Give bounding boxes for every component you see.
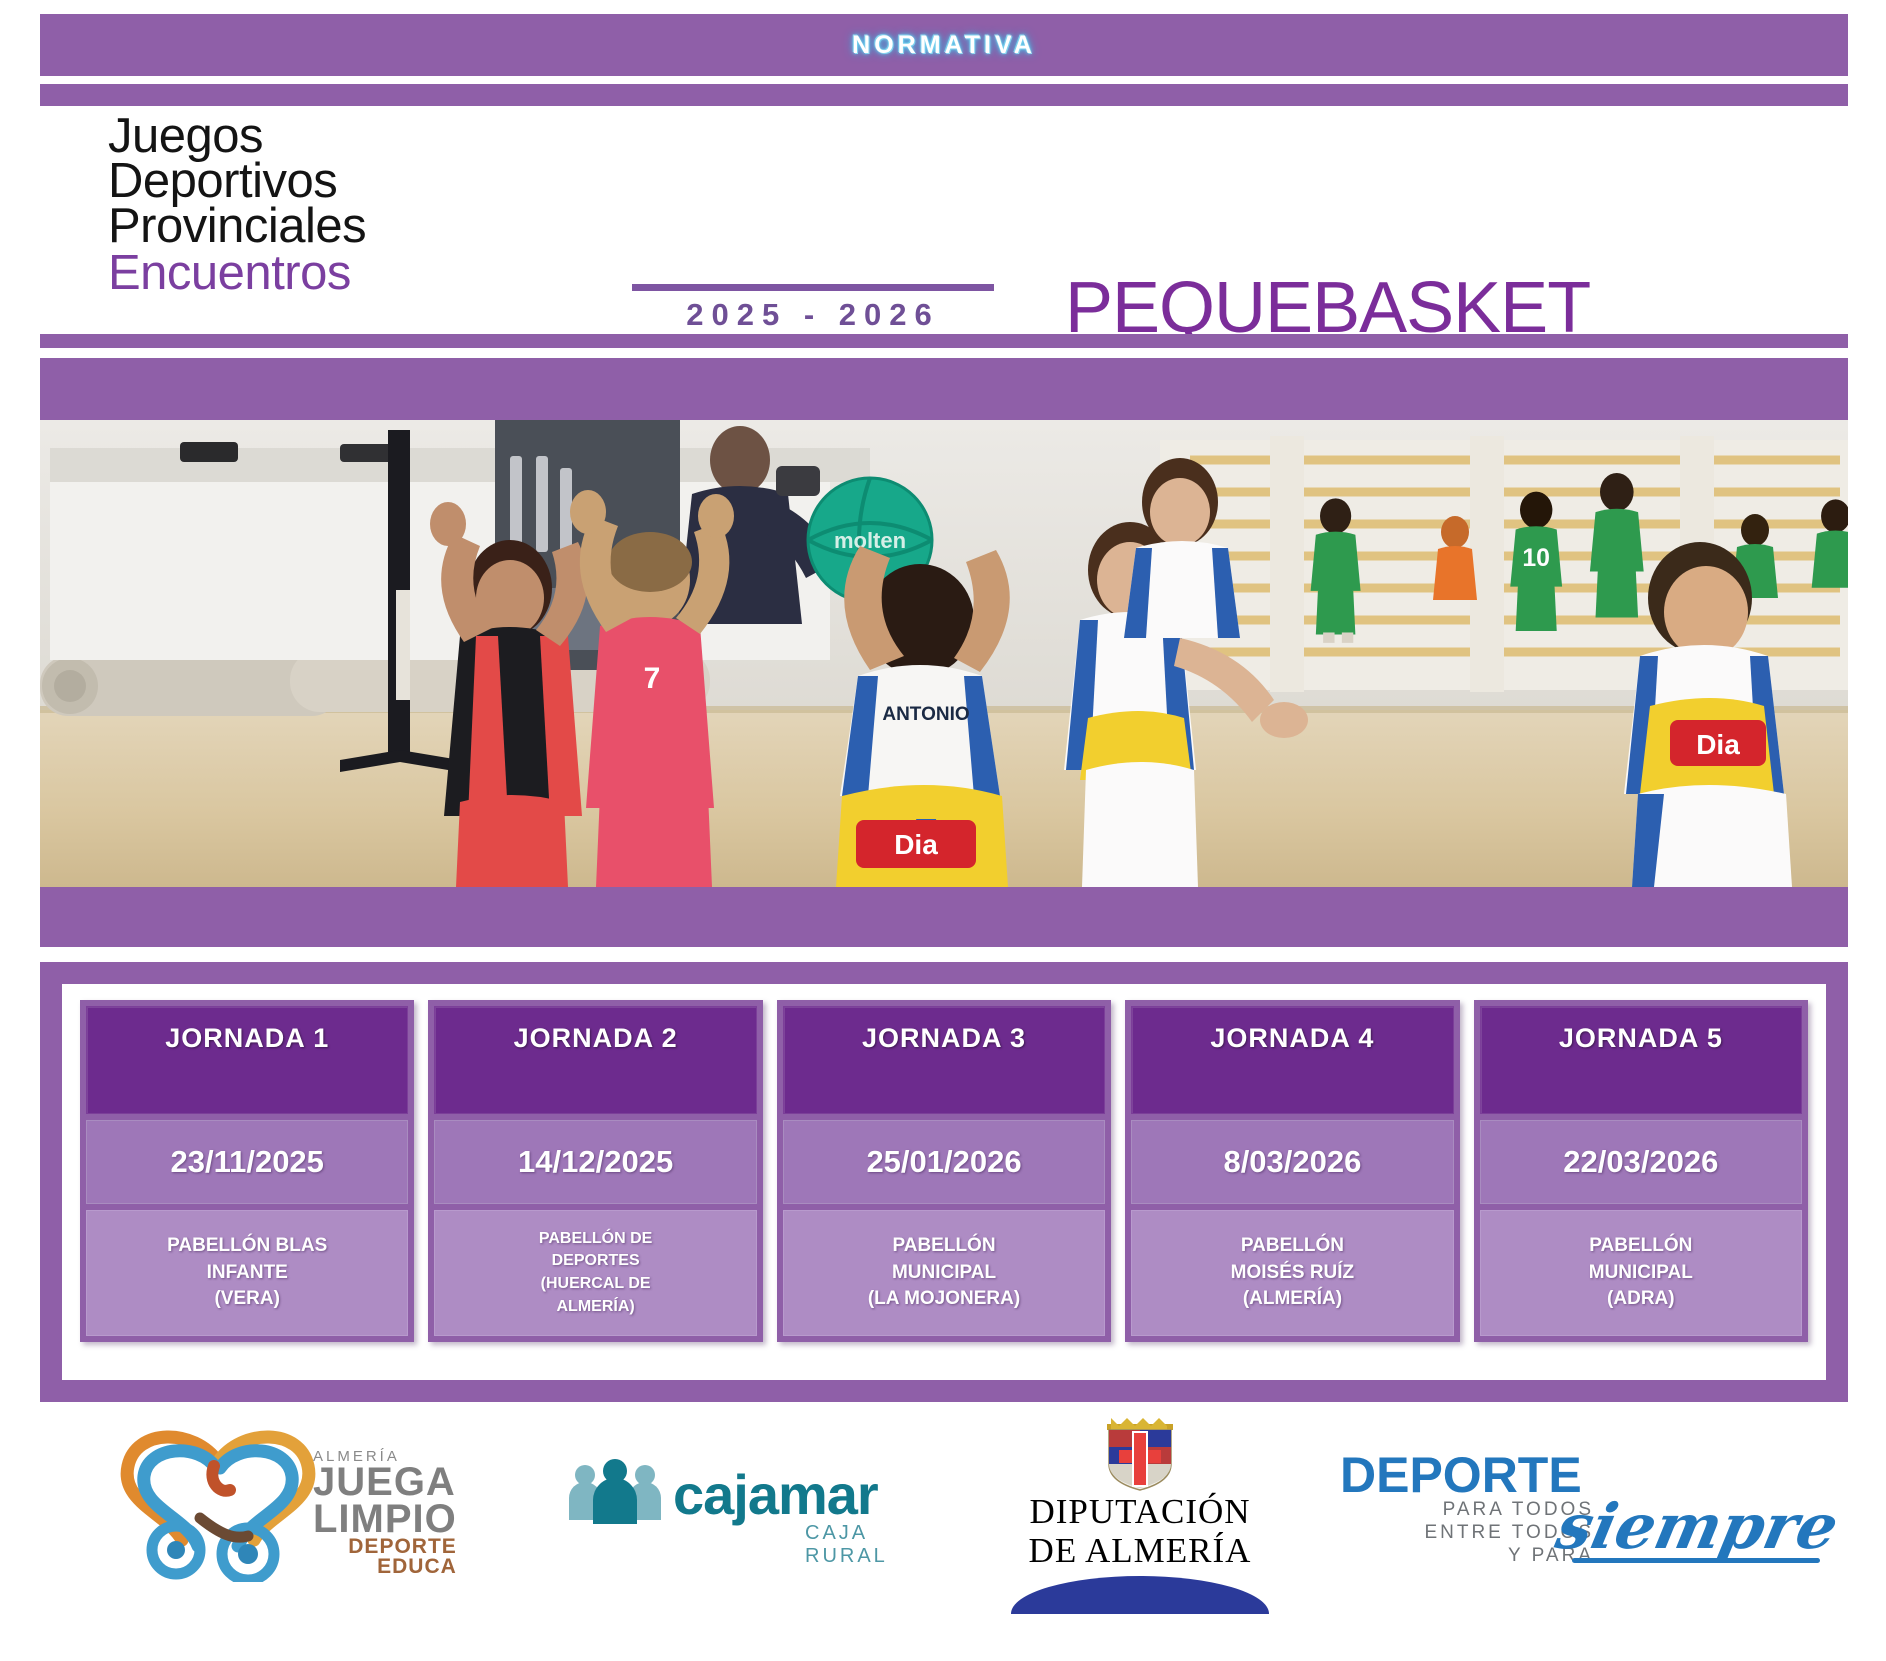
logo-diputacion: DIPUTACIÓN DE ALMERÍA [990, 1416, 1290, 1606]
svg-text:molten: molten [834, 528, 906, 553]
jornada-card[interactable]: JORNADA 3 25/01/2026 PABELLÓN MUNICIPAL … [777, 1000, 1111, 1342]
jornada-title: JORNADA 5 [1480, 1006, 1802, 1114]
venue-line: MUNICIPAL [1589, 1260, 1693, 1287]
jornada-card[interactable]: JORNADA 1 23/11/2025 PABELLÓN BLAS INFAN… [80, 1000, 414, 1342]
footer-sponsors: ALMERÍA JUEGA LIMPIO DEPORTE EDUCA cajam… [0, 1410, 1886, 1661]
divider-bar-thin [40, 334, 1848, 348]
venue-line: PABELLÓN [1241, 1233, 1344, 1260]
diputacion-line2: DE ALMERÍA [990, 1531, 1290, 1570]
photo-top-bar [40, 358, 1848, 420]
schedule-panel: JORNADA 1 23/11/2025 PABELLÓN BLAS INFAN… [40, 962, 1848, 1402]
venue-line: (VERA) [214, 1286, 279, 1313]
hero-photo-illustration: molten 7 [40, 420, 1848, 887]
jornada-date: 14/12/2025 [434, 1120, 756, 1204]
jl-limpio: LIMPIO [313, 1501, 457, 1538]
svg-text:7: 7 [644, 662, 661, 695]
poster-root: NORMATIVA Juegos Deportivos Provinciales… [0, 0, 1886, 1661]
brand-line-1: Juegos [108, 114, 366, 159]
hero-photo: molten 7 [40, 420, 1848, 887]
photo-bottom-bar [40, 887, 1848, 947]
venue-line: MUNICIPAL [892, 1260, 996, 1287]
jornada-venue: PABELLÓN MUNICIPAL (ADRA) [1480, 1210, 1802, 1336]
jornada-date: 22/03/2026 [1480, 1120, 1802, 1204]
jornada-title: JORNADA 2 [434, 1006, 756, 1114]
schedule-cards: JORNADA 1 23/11/2025 PABELLÓN BLAS INFAN… [62, 984, 1826, 1380]
jornada-title: JORNADA 3 [783, 1006, 1105, 1114]
siempre-script: siempre [1550, 1490, 1845, 1563]
header: Juegos Deportivos Provinciales Encuentro… [0, 112, 1886, 292]
jornada-title: JORNADA 4 [1131, 1006, 1453, 1114]
jornada-venue: PABELLÓN DE DEPORTES (HUERCAL DE ALMERÍA… [434, 1210, 756, 1336]
normativa-label: NORMATIVA [852, 31, 1036, 60]
jornada-title: JORNADA 1 [86, 1006, 408, 1114]
jornada-date: 25/01/2026 [783, 1120, 1105, 1204]
season-rule-top [632, 284, 994, 291]
svg-text:Dia: Dia [894, 829, 938, 860]
venue-line: MOISÉS RUÍZ [1231, 1260, 1355, 1287]
venue-line: PABELLÓN [1589, 1233, 1692, 1260]
venue-line: PABELLÓN [892, 1233, 995, 1260]
jornada-venue: PABELLÓN MUNICIPAL (LA MOJONERA) [783, 1210, 1105, 1336]
normativa-banner: NORMATIVA [40, 14, 1848, 76]
logo-juega-limpio: ALMERÍA JUEGA LIMPIO DEPORTE EDUCA [108, 1422, 508, 1592]
heart-swirl-icon [108, 1422, 328, 1582]
venue-line: DEPORTES [552, 1250, 640, 1273]
jornada-card[interactable]: JORNADA 2 14/12/2025 PABELLÓN DE DEPORTE… [428, 1000, 762, 1342]
venue-line: (HUERCAL DE [541, 1273, 651, 1296]
normativa-rule [40, 84, 1848, 106]
jl-juega: JUEGA [313, 1464, 457, 1501]
jornada-card[interactable]: JORNADA 5 22/03/2026 PABELLÓN MUNICIPAL … [1474, 1000, 1808, 1342]
jornada-card[interactable]: JORNADA 4 8/03/2026 PABELLÓN MOISÉS RUÍZ… [1125, 1000, 1459, 1342]
season-label: 2025 - 2026 [632, 291, 994, 337]
venue-line: PABELLÓN DE [539, 1228, 652, 1251]
venue-line: (ALMERÍA) [1243, 1286, 1342, 1313]
brand-line-2: Deportivos [108, 159, 366, 204]
cajamar-wordmark: cajamar [673, 1462, 878, 1527]
venue-line: ALMERÍA) [557, 1296, 635, 1319]
venue-line: (LA MOJONERA) [868, 1286, 1020, 1313]
jornada-venue: PABELLÓN BLAS INFANTE (VERA) [86, 1210, 408, 1336]
jl-educa: EDUCA [313, 1557, 457, 1576]
claim-line-1: PARA TODOS [1344, 1498, 1594, 1521]
brand-line-3: Provinciales [108, 204, 366, 249]
jornada-date: 8/03/2026 [1131, 1120, 1453, 1204]
svg-text:ANTONIO: ANTONIO [882, 704, 969, 725]
siempre-underline [1572, 1558, 1820, 1563]
venue-line: INFANTE [207, 1260, 288, 1287]
venue-line: PABELLÓN BLAS [167, 1233, 327, 1260]
svg-text:Dia: Dia [1696, 729, 1740, 760]
coat-of-arms-icon [1095, 1416, 1185, 1492]
brand-line-4: Encuentros [108, 251, 366, 296]
jornada-date: 23/11/2025 [86, 1120, 408, 1204]
deporte-wordmark: DEPORTE [1340, 1446, 1582, 1504]
jornada-venue: PABELLÓN MOISÉS RUÍZ (ALMERÍA) [1131, 1210, 1453, 1336]
brand-logo: Juegos Deportivos Provinciales Encuentro… [108, 114, 366, 296]
cajamar-subtitle: CAJA RURAL [805, 1522, 945, 1568]
venue-line: (ADRA) [1607, 1286, 1675, 1313]
diputacion-line1: DIPUTACIÓN [990, 1492, 1290, 1531]
diputacion-arc [1011, 1576, 1269, 1614]
people-group-icon [565, 1458, 665, 1530]
logo-cajamar: cajamar CAJA RURAL [565, 1458, 945, 1578]
svg-text:10: 10 [1522, 545, 1550, 572]
logo-deporte-siempre: DEPORTE PARA TODOS ENTRE TODOS Y PARA si… [1340, 1446, 1810, 1586]
juega-limpio-wordmark: ALMERÍA JUEGA LIMPIO DEPORTE EDUCA [313, 1450, 457, 1576]
